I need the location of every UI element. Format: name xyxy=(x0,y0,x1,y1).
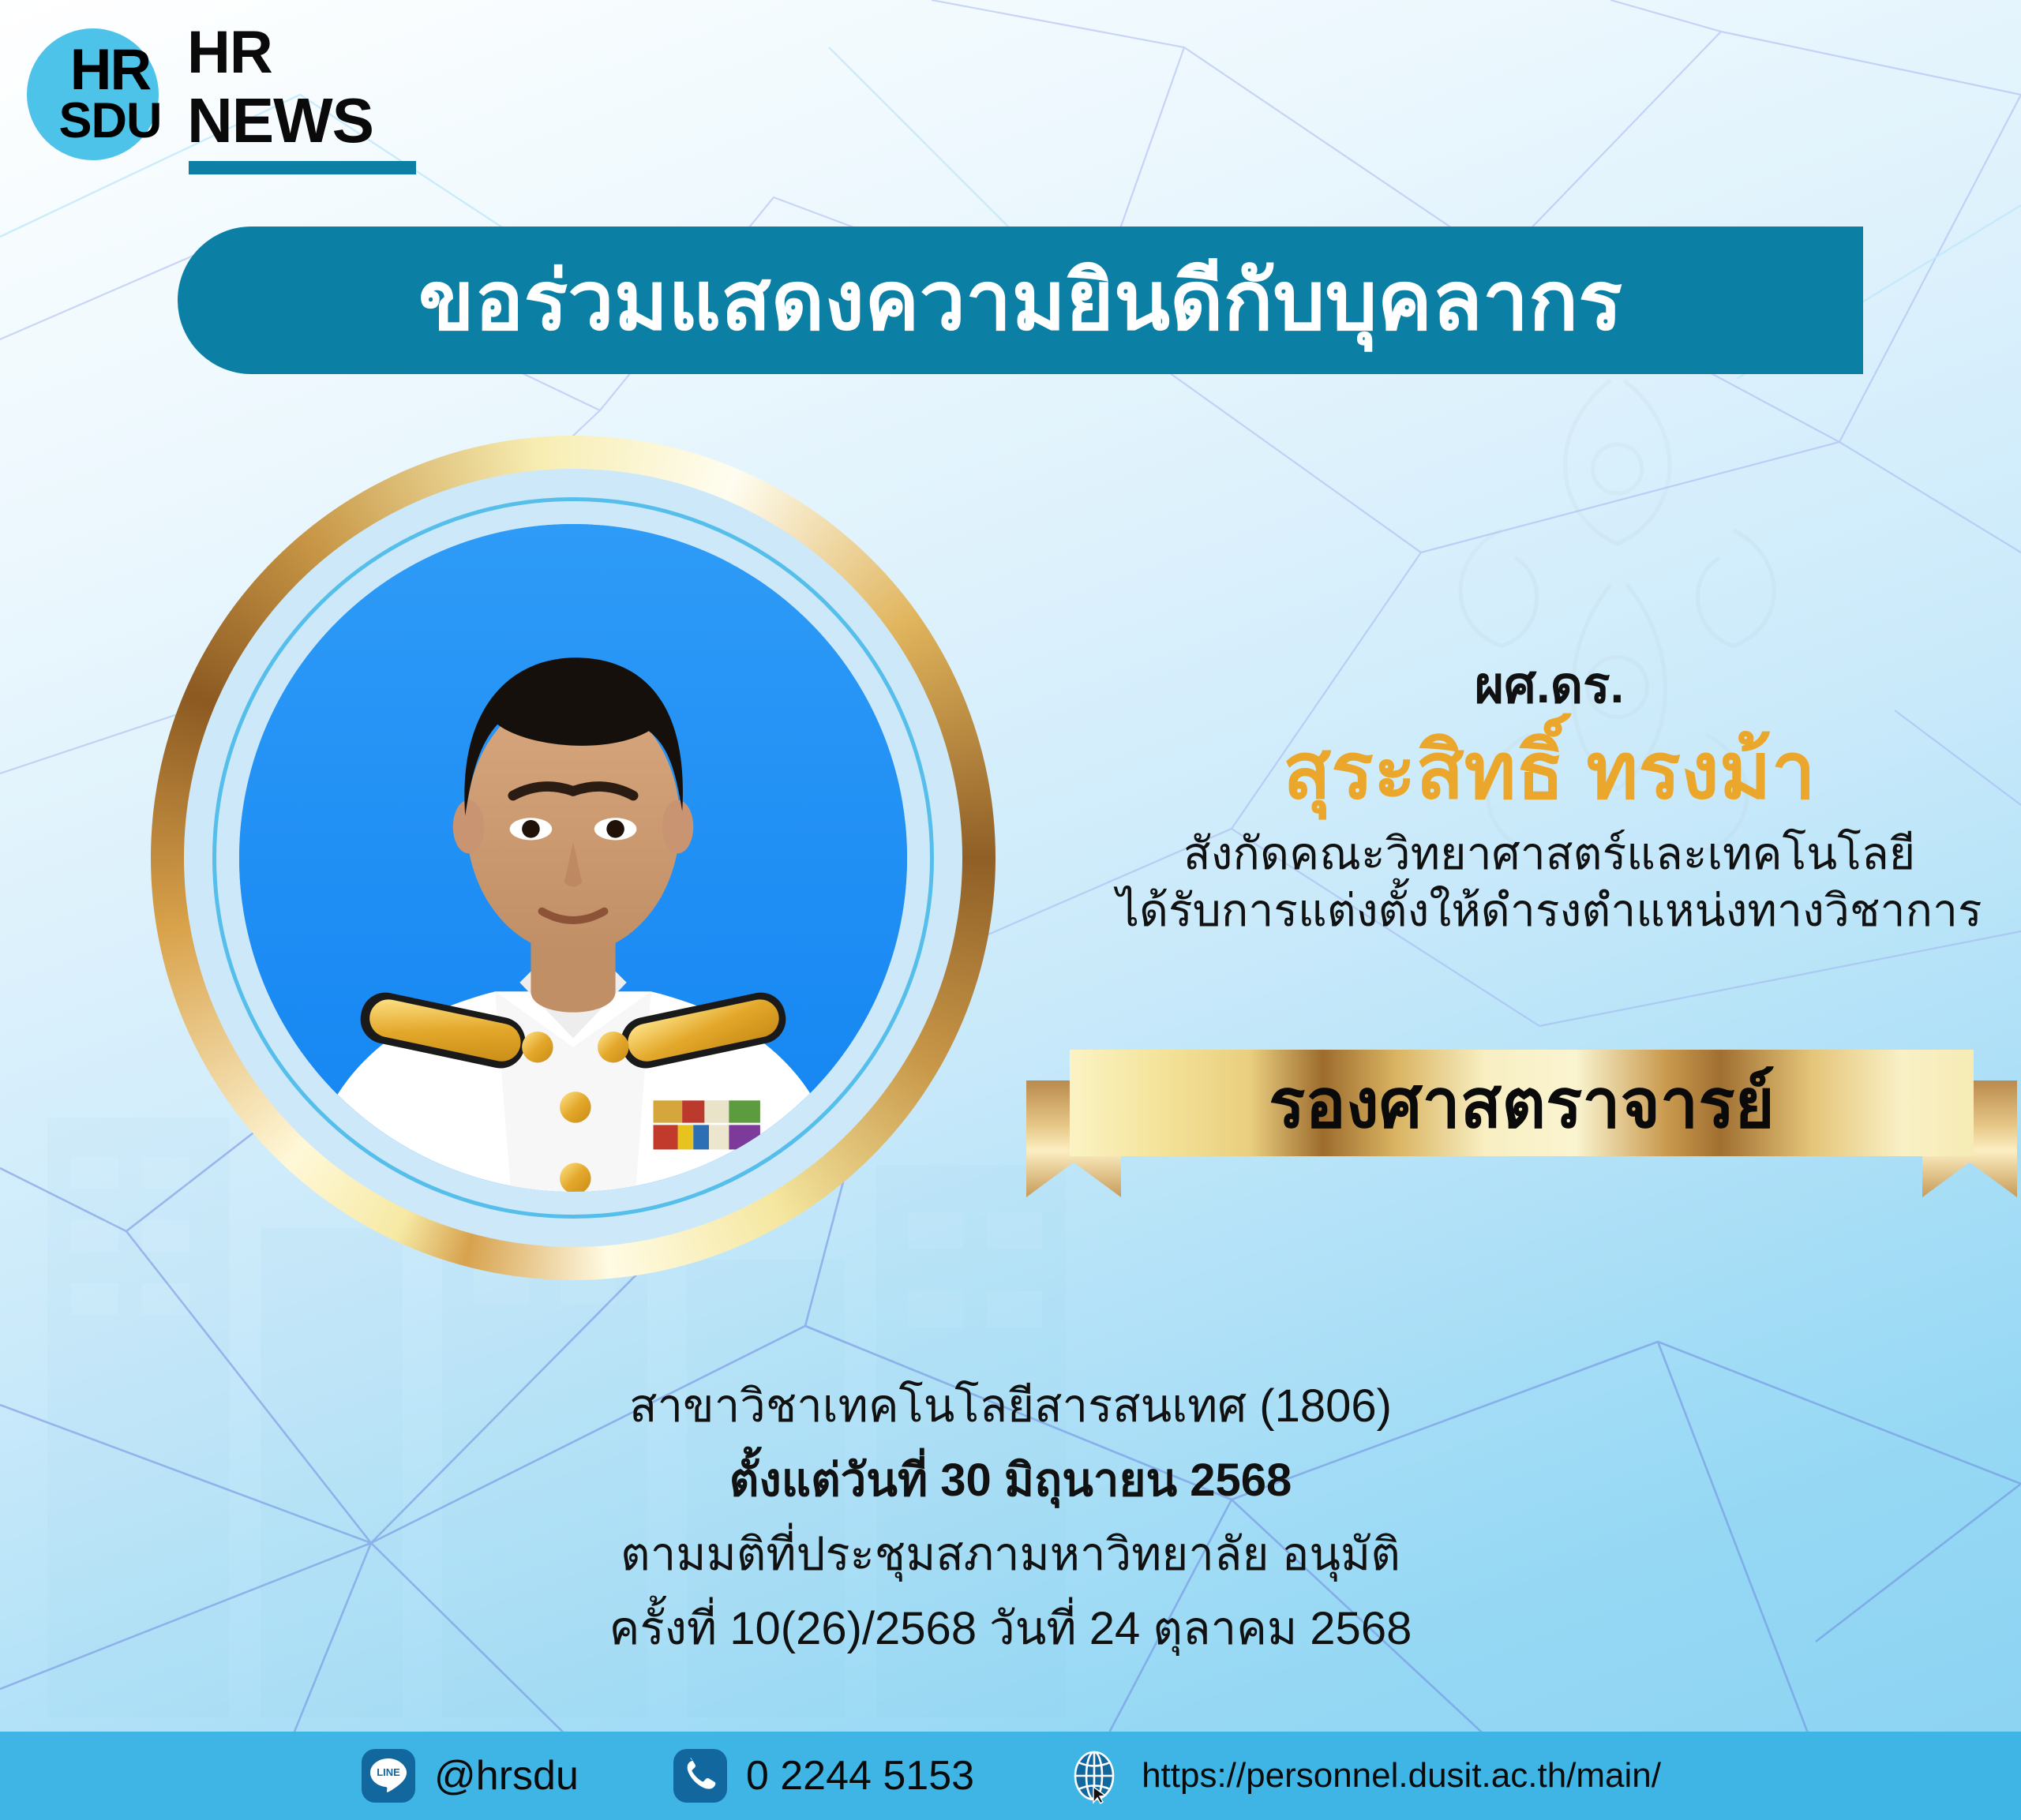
ribbon-band: รองศาสตราจารย์ xyxy=(1070,1050,1974,1156)
appointment-details: สาขาวิชาเทคโนโลยีสารสนเทศ (1806) ตั้งแต่… xyxy=(261,1369,1760,1666)
person-name: สุระสิทธิ์ ทรงม้า xyxy=(1082,725,2017,818)
detail-line-effective-date: ตั้งแต่วันที่ 30 มิถุนายน 2568 xyxy=(261,1444,1760,1518)
footer-website-contact[interactable]: https://personnel.dusit.ac.th/main/ xyxy=(1067,1747,1661,1804)
phone-icon xyxy=(672,1747,729,1804)
portrait-frame xyxy=(151,436,996,1280)
footer-phone-contact[interactable]: 0 2244 5153 xyxy=(672,1747,974,1804)
person-appointment-text: ได้รับการแต่งตั้งให้ดำรงตำแหน่งทางวิชากา… xyxy=(1082,882,2017,939)
footer-line-contact[interactable]: LINE @hrsdu xyxy=(360,1747,579,1804)
headline-title: ขอร่วมแสดงความยินดีกับบุคลากร xyxy=(178,227,1863,374)
academic-title-ribbon: รองศาสตราจารย์ xyxy=(1026,1026,2017,1196)
line-id-label: @hrsdu xyxy=(434,1752,579,1799)
logo-badge-hr: HR xyxy=(41,46,179,95)
phone-number-label: 0 2244 5153 xyxy=(746,1752,974,1799)
person-prefix: ผศ.ดร. xyxy=(1082,655,2017,715)
detail-line-resolution: ตามมติที่ประชุมสภามหาวิทยาลัย อนุมัติ xyxy=(261,1518,1760,1592)
detail-line-meeting: ครั้งที่ 10(26)/2568 วันที่ 24 ตุลาคม 25… xyxy=(261,1592,1760,1666)
globe-icon xyxy=(1067,1747,1124,1804)
logo-badge-sdu: SDU xyxy=(41,96,179,145)
brand-title-news: NEWS xyxy=(187,89,373,152)
line-icon: LINE xyxy=(360,1747,417,1804)
svg-text:LINE: LINE xyxy=(377,1766,400,1778)
contact-footer: LINE @hrsdu 0 2244 5153 xyxy=(0,1732,2021,1820)
person-info-block: ผศ.ดร. สุระสิทธิ์ ทรงม้า สังกัดคณะวิทยาศ… xyxy=(1082,655,2017,939)
portrait-photo xyxy=(239,524,907,1192)
website-url-label: https://personnel.dusit.ac.th/main/ xyxy=(1142,1756,1661,1796)
ribbon-title-text: รองศาสตราจารย์ xyxy=(1269,1049,1775,1157)
hr-news-logo: HR SDU HR NEWS xyxy=(17,14,428,168)
poster-root: HR SDU HR NEWS ขอร่วมแสดงความยินดีกับบุค… xyxy=(0,0,2021,1820)
brand-underline xyxy=(189,161,416,174)
person-faculty: สังกัดคณะวิทยาศาสตร์และเทคโนโลยี xyxy=(1082,826,2017,882)
brand-title-hr: HR xyxy=(187,23,272,83)
detail-line-program: สาขาวิชาเทคโนโลยีสารสนเทศ (1806) xyxy=(261,1369,1760,1444)
